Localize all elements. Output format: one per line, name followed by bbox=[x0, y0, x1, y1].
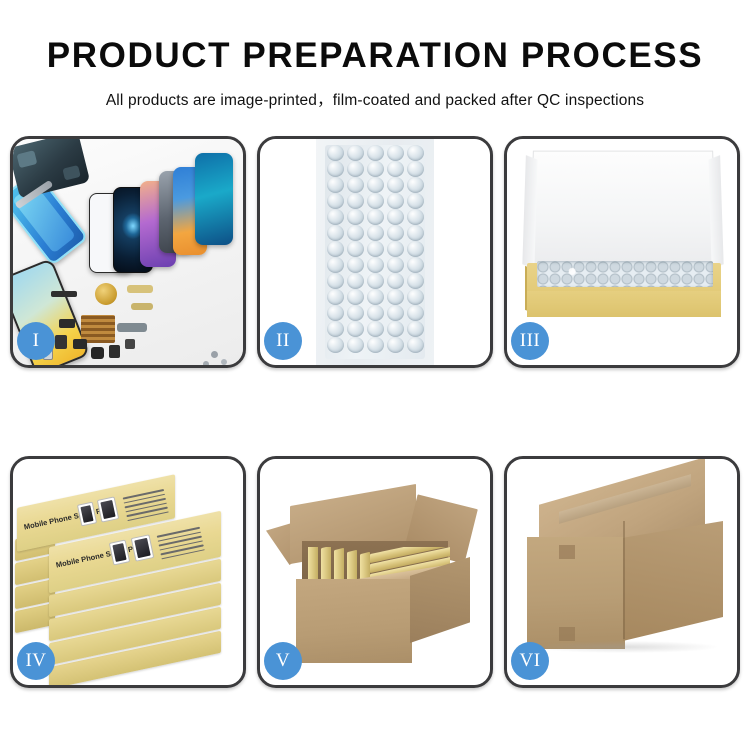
bubble bbox=[407, 289, 424, 305]
flex-cable-1 bbox=[127, 285, 153, 293]
bubble bbox=[327, 257, 344, 273]
step-panel-3[interactable]: III bbox=[504, 136, 740, 368]
step-panel-5[interactable]: V bbox=[257, 456, 493, 688]
bubble bbox=[347, 193, 364, 209]
bubble bbox=[367, 209, 384, 225]
bubble bbox=[327, 193, 344, 209]
bubble bbox=[327, 241, 344, 257]
bubble bbox=[387, 241, 404, 257]
bubble bbox=[347, 225, 364, 241]
bubble bbox=[347, 273, 364, 289]
bubble bbox=[347, 321, 364, 337]
bubble bbox=[367, 289, 384, 305]
carton-handle-notch-top bbox=[559, 545, 575, 559]
bubble bbox=[347, 289, 364, 305]
screw-2 bbox=[221, 359, 227, 365]
sealed-carton-side bbox=[623, 521, 723, 641]
component-bar bbox=[51, 291, 77, 297]
bubble bbox=[367, 225, 384, 241]
bubble bbox=[347, 209, 364, 225]
step-badge-3: III bbox=[511, 322, 549, 360]
bubble bbox=[347, 241, 364, 257]
bubble bbox=[407, 321, 424, 337]
small-part-5 bbox=[109, 345, 120, 358]
bubble bbox=[327, 321, 344, 337]
small-part-1 bbox=[59, 319, 75, 328]
small-part-2 bbox=[55, 335, 67, 349]
screw-3 bbox=[203, 361, 209, 365]
bubble bbox=[387, 225, 404, 241]
bubble bbox=[327, 305, 344, 321]
step-badge-5: V bbox=[264, 642, 302, 680]
step-panel-4[interactable]: Mobile Phone Spare Parts Mobile Phone Sp… bbox=[10, 456, 246, 688]
bubble bbox=[387, 321, 404, 337]
bubble bbox=[347, 257, 364, 273]
bubble bbox=[407, 241, 424, 257]
phone-back-housing bbox=[13, 139, 90, 199]
bubble bbox=[327, 209, 344, 225]
bubble bbox=[347, 145, 364, 161]
bubble bbox=[327, 337, 344, 353]
step-panel-1[interactable]: I bbox=[10, 136, 246, 368]
bubble bbox=[367, 321, 384, 337]
bubble bbox=[387, 289, 404, 305]
bubble bbox=[367, 273, 384, 289]
bubble bbox=[407, 257, 424, 273]
bubble bbox=[367, 193, 384, 209]
bubble bbox=[407, 209, 424, 225]
phone-teal bbox=[195, 153, 233, 245]
bubble bbox=[327, 273, 344, 289]
inner-box-front-panel bbox=[527, 291, 721, 317]
carton-corner-seam bbox=[623, 521, 625, 639]
bubble bbox=[347, 305, 364, 321]
bubble bbox=[387, 273, 404, 289]
bubble bbox=[407, 177, 424, 193]
process-steps-grid: I II III bbox=[10, 136, 740, 688]
bubble bbox=[387, 193, 404, 209]
bubble bbox=[387, 145, 404, 161]
small-part-3 bbox=[73, 339, 87, 349]
bubble bbox=[387, 177, 404, 193]
inner-box-lid bbox=[529, 151, 717, 278]
bubble bbox=[327, 177, 344, 193]
bubble bbox=[347, 161, 364, 177]
bubble bbox=[407, 193, 424, 209]
product-preparation-infographic: PRODUCT PREPARATION PROCESS All products… bbox=[0, 0, 750, 750]
sealed-carton-front bbox=[527, 537, 625, 649]
bubble bbox=[387, 161, 404, 177]
bubble bbox=[327, 289, 344, 305]
bubble bbox=[407, 305, 424, 321]
step-panel-2[interactable]: II bbox=[257, 136, 493, 368]
bubble bbox=[387, 209, 404, 225]
small-part-6 bbox=[125, 339, 135, 349]
bubble bbox=[367, 161, 384, 177]
carton-handle-notch-bottom bbox=[559, 627, 575, 641]
bubble bbox=[327, 225, 344, 241]
bubble bbox=[387, 257, 404, 273]
flex-cable-2 bbox=[131, 303, 153, 310]
bubble bbox=[407, 161, 424, 177]
bubble bbox=[327, 145, 344, 161]
flex-cable-3 bbox=[117, 323, 147, 332]
bubble bbox=[407, 337, 424, 353]
bubble bbox=[387, 305, 404, 321]
small-part-4 bbox=[91, 347, 104, 359]
screw-1 bbox=[211, 351, 218, 358]
speaker-component bbox=[95, 283, 117, 305]
bubble bbox=[367, 177, 384, 193]
bubble bbox=[347, 337, 364, 353]
carton-shadow bbox=[533, 641, 717, 653]
bubble bbox=[367, 241, 384, 257]
step-badge-1: I bbox=[17, 322, 55, 360]
bubble bbox=[407, 225, 424, 241]
step-badge-2: II bbox=[264, 322, 302, 360]
bubble bbox=[407, 273, 424, 289]
carton-front-panel bbox=[296, 579, 412, 663]
bubble bbox=[407, 145, 424, 161]
header: PRODUCT PREPARATION PROCESS All products… bbox=[0, 0, 750, 110]
bubble bbox=[347, 177, 364, 193]
step-badge-4: IV bbox=[17, 642, 55, 680]
bubble bbox=[367, 305, 384, 321]
bubble bbox=[327, 161, 344, 177]
bubble bbox=[367, 257, 384, 273]
bubble bbox=[387, 337, 404, 353]
page-title: PRODUCT PREPARATION PROCESS bbox=[0, 38, 750, 73]
bubble-wrapped-product-in-box bbox=[537, 261, 713, 287]
bubble-wrap-grid bbox=[325, 145, 425, 359]
bubble bbox=[367, 337, 384, 353]
page-subtitle: All products are image-printed，film-coat… bbox=[0, 88, 750, 110]
step-badge-6: VI bbox=[511, 642, 549, 680]
step-panel-6[interactable]: VI bbox=[504, 456, 740, 688]
bubble bbox=[367, 145, 384, 161]
